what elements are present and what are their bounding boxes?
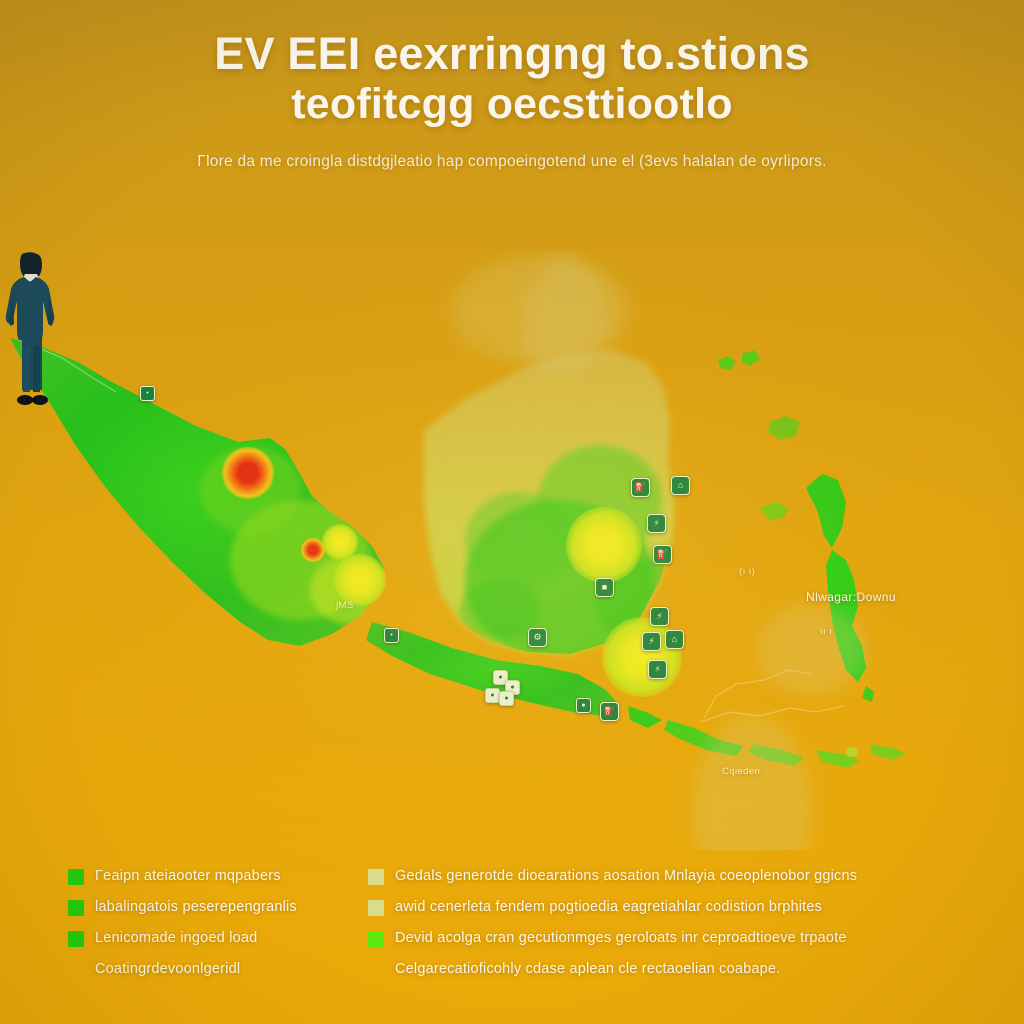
legend-row: labalingatois peserepengranlisawid cener…	[68, 899, 958, 916]
pale-station-marker-4[interactable]: ●	[499, 691, 514, 706]
legend-row: CoatingrdevoonlgeridlCelgarecatioficohly…	[68, 961, 958, 978]
legend-swatch	[68, 931, 84, 947]
legend-swatch-placeholder	[368, 962, 384, 978]
map-legend: Γeaipn ateiaooter mqpabersGedals generot…	[68, 868, 958, 992]
charging-station-marker-13[interactable]: •	[140, 386, 155, 401]
page-subtitle: Γlore da me croingla distdgjleatio hap c…	[0, 153, 1024, 171]
charging-station-marker-5[interactable]: ■	[595, 578, 614, 597]
northern-islets	[718, 350, 800, 440]
charging-station-marker-11[interactable]: ⛽	[600, 702, 619, 721]
legend-swatch	[68, 869, 84, 885]
legend-item-left-4: Coatingrdevoonlgeridl	[68, 961, 368, 978]
poster-header: EV EEI eexrringng to.stions teofitcgg oe…	[0, 30, 1024, 171]
charging-station-marker-9[interactable]: ⚙	[528, 628, 547, 647]
charging-station-marker-6[interactable]: ⚡	[650, 607, 669, 626]
legend-item-right-1: Gedals generotde dioearations aosation M…	[368, 868, 958, 885]
map-canvas[interactable]: ⛽⌂⚡⛽■⚡⚡⌂⚙⚡⛽●••●●●● Nlwagar:DownuCqiedenj…	[0, 250, 1024, 850]
archipelago-map-svg	[0, 250, 1024, 850]
legend-row: Lenicomade ingoed loadDevid acolga cran …	[68, 930, 958, 947]
charging-station-marker-3[interactable]: ⚡	[647, 514, 666, 533]
legend-item-left-1: Γeaipn ateiaooter mqpabers	[68, 868, 368, 885]
legend-item-right-3: Devid acolga cran gecutionmges geroloats…	[368, 930, 958, 947]
map-label-4: (ı ı)	[739, 566, 755, 577]
legend-item-right-4: Celgarecatioficohly cdase aplean cle rec…	[368, 961, 958, 978]
charging-station-marker-10[interactable]: ⚡	[648, 660, 667, 679]
legend-label: Devid acolga cran gecutionmges geroloats…	[395, 930, 847, 946]
legend-label: Gedals generotde dioearations aosation M…	[395, 868, 857, 884]
borneo-heat-overlay	[424, 350, 685, 660]
legend-row: Γeaipn ateiaooter mqpabersGedals generot…	[68, 868, 958, 885]
map-label-2: Cqieden	[722, 766, 760, 777]
legend-label: awid cenerleta fendem pogtioedia eagreti…	[395, 899, 822, 915]
infographic-poster: EV EEI eexrringng to.stions teofitcgg oe…	[0, 0, 1024, 1024]
pale-station-marker-3[interactable]: ●	[485, 688, 500, 703]
charging-station-marker-2[interactable]: ⌂	[671, 476, 690, 495]
charging-station-marker-12[interactable]: ●	[576, 698, 591, 713]
legend-label: Lenicomade ingoed load	[95, 930, 257, 946]
charging-station-marker-1[interactable]: ⛽	[631, 478, 650, 497]
charging-station-marker-8[interactable]: ⌂	[665, 630, 684, 649]
legend-swatch	[368, 869, 384, 885]
charging-station-marker-14[interactable]: •	[384, 628, 399, 643]
map-label-1: Nlwagar:Downu	[806, 590, 896, 604]
charging-station-marker-7[interactable]: ⚡	[642, 632, 661, 651]
page-title-line-1: EV EEI eexrringng to.stions	[0, 30, 1024, 78]
map-label-5: ıı ı	[820, 626, 832, 637]
legend-label: labalingatois peserepengranlis	[95, 899, 297, 915]
legend-item-left-2: labalingatois peserepengranlis	[68, 899, 368, 916]
map-label-3: jMS	[336, 600, 354, 611]
legend-label: Coatingrdevoonlgeridl	[95, 961, 240, 977]
legend-swatch	[68, 900, 84, 916]
legend-item-right-2: awid cenerleta fendem pogtioedia eagreti…	[368, 899, 958, 916]
legend-label: Celgarecatioficohly cdase aplean cle rec…	[395, 961, 780, 977]
legend-swatch	[368, 900, 384, 916]
legend-swatch	[368, 931, 384, 947]
person-silhouette	[0, 250, 62, 410]
legend-label: Γeaipn ateiaooter mqpabers	[95, 868, 281, 884]
legend-item-left-3: Lenicomade ingoed load	[68, 930, 368, 947]
legend-swatch-placeholder	[68, 962, 84, 978]
page-title-line-2: teofitcgg oecsttiootlo	[0, 82, 1024, 128]
charging-station-marker-4[interactable]: ⛽	[653, 545, 672, 564]
